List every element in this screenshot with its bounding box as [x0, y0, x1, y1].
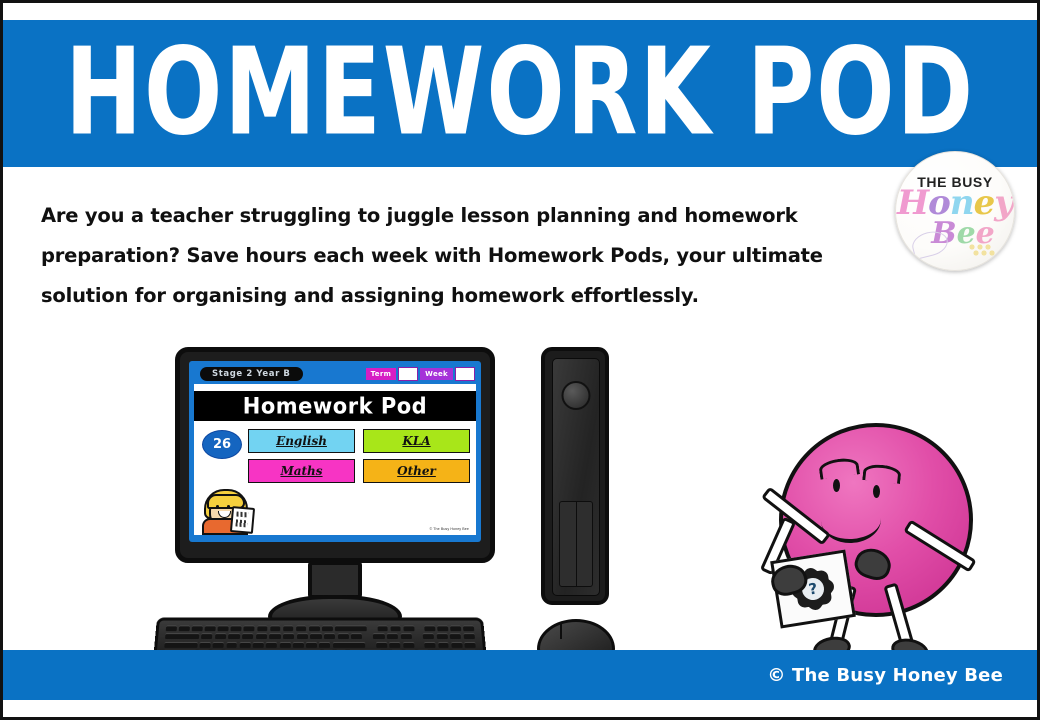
keyboard-row [166, 625, 475, 631]
term-label: Term [366, 368, 397, 380]
brand-logo-badge: THE BUSY Honey Bee [895, 151, 1015, 271]
monitor-neck [308, 561, 362, 599]
subject-button-kla[interactable]: KLA [363, 429, 470, 453]
pink-pod-character: ? [751, 423, 1001, 668]
screen-body: 26 English KLA Maths Other [194, 421, 476, 535]
subject-button-english[interactable]: English [248, 429, 355, 453]
footer-copyright: © The Busy Honey Bee [767, 665, 1003, 686]
keyboard-row [165, 634, 475, 640]
screen-title: Homework Pod [243, 393, 427, 418]
tower-panel [552, 358, 600, 596]
logo-honey-word: Honey [897, 188, 1013, 219]
computer-tower [541, 347, 609, 605]
subject-button-grid: English KLA Maths Other [248, 429, 470, 483]
monitor-frame: Stage 2 Year B Term Week Homework Pod [175, 347, 495, 563]
page-title: HOMEWORK POD [65, 32, 975, 152]
illustration-scene: Stage 2 Year B Term Week Homework Pod [3, 323, 1037, 675]
honeycomb-icon [968, 243, 998, 259]
poster-page: HOMEWORK POD THE BUSY Honey Bee Are you … [0, 0, 1040, 720]
description-paragraph: Are you a teacher struggling to juggle l… [41, 196, 871, 316]
week-input[interactable] [455, 367, 475, 381]
student-illustration [198, 487, 256, 535]
subject-button-maths[interactable]: Maths [248, 459, 355, 483]
term-input[interactable] [398, 367, 418, 381]
screen-title-bar: Homework Pod [194, 391, 476, 421]
tower-drive-bay [559, 501, 593, 587]
screen-top-row: Stage 2 Year B Term Week [194, 366, 476, 382]
count-badge: 26 [202, 430, 242, 459]
character-eye-left [833, 479, 840, 492]
week-label: Week [420, 368, 453, 380]
screen-divider [194, 384, 476, 391]
kid-eye-right [227, 505, 230, 508]
term-week-group: Term Week [366, 367, 475, 381]
power-button-icon[interactable] [562, 381, 591, 410]
keyboard-row [164, 642, 476, 648]
kid-card-icon [230, 506, 255, 534]
header-bar: HOMEWORK POD [3, 20, 1037, 167]
monitor-screen: Stage 2 Year B Term Week Homework Pod [189, 361, 481, 542]
kid-eye-left [216, 505, 219, 508]
footer-bar: © The Busy Honey Bee [3, 650, 1037, 700]
screen-credit: © The Busy Honey Bee [429, 527, 469, 531]
stage-year-pill: Stage 2 Year B [200, 367, 303, 381]
computer-monitor: Stage 2 Year B Term Week Homework Pod [175, 347, 495, 629]
subject-button-other[interactable]: Other [363, 459, 470, 483]
